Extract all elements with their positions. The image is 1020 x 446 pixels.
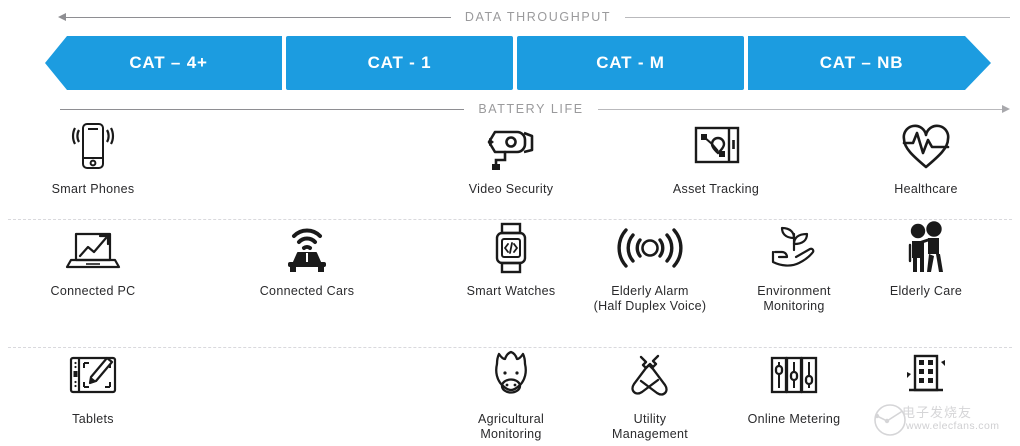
use-case-row-2: Connected PC Connected Cars — [0, 220, 1020, 348]
laptop-growth-chart-icon — [18, 220, 168, 276]
use-case-label: Elderly Alarm (Half Duplex Voice) — [575, 284, 725, 314]
two-people-icon — [851, 220, 1001, 276]
category-segment-cat-nb[interactable]: CAT – NB — [748, 36, 991, 90]
use-case-label: Video Security — [436, 182, 586, 197]
use-case-tablets[interactable]: Tablets — [18, 348, 168, 427]
category-label: CAT – 4+ — [129, 53, 207, 73]
category-bar: CAT – 4+ CAT - 1 CAT - M CAT – NB — [55, 36, 975, 90]
category-segment-cat-1[interactable]: CAT - 1 — [286, 36, 513, 90]
axis-line-left — [66, 17, 451, 18]
axis-line-right — [625, 17, 1010, 18]
use-case-label: Connected Cars — [232, 284, 382, 299]
smartwatch-icon — [436, 220, 586, 276]
use-case-label: Healthcare — [851, 182, 1001, 197]
use-case-connected-cars[interactable]: Connected Cars — [232, 220, 382, 299]
use-case-online-metering[interactable]: Online Metering — [719, 348, 869, 427]
alarm-signal-waves-icon — [575, 220, 725, 276]
hand-sprout-icon — [719, 220, 869, 276]
use-case-smart-building[interactable] — [851, 348, 1001, 412]
use-case-elderly-alarm[interactable]: Elderly Alarm (Half Duplex Voice) — [575, 220, 725, 314]
use-case-agricultural-monitoring[interactable]: Agricultural Monitoring — [436, 348, 586, 442]
category-label: CAT - M — [596, 53, 665, 73]
smart-building-icon — [851, 348, 1001, 404]
cow-head-icon — [436, 348, 586, 404]
use-case-row-1: Smart Phones Video Security — [0, 118, 1020, 220]
use-case-utility-management[interactable]: Utility Management — [575, 348, 725, 442]
drawing-tablet-stylus-icon — [18, 348, 168, 404]
category-segment-cat-4plus[interactable]: CAT – 4+ — [45, 36, 282, 90]
use-case-label: Smart Phones — [18, 182, 168, 197]
wrench-screwdriver-icon — [575, 348, 725, 404]
category-label: CAT – NB — [820, 53, 904, 73]
use-case-label: Environment Monitoring — [719, 284, 869, 314]
use-case-label: Agricultural Monitoring — [436, 412, 586, 442]
use-case-label: Utility Management — [575, 412, 725, 442]
smartphone-signal-icon — [18, 118, 168, 174]
sliders-meter-icon — [719, 348, 869, 404]
heart-pulse-icon — [851, 118, 1001, 174]
use-case-row-3: Tablets Agricultural Monitoring — [0, 348, 1020, 446]
use-case-smart-phones[interactable]: Smart Phones — [18, 118, 168, 197]
data-throughput-axis: DATA THROUGHPUT — [58, 6, 1010, 28]
use-case-label: Asset Tracking — [641, 182, 791, 197]
use-case-smart-watches[interactable]: Smart Watches — [436, 220, 586, 299]
axis-line-left — [60, 109, 464, 110]
use-case-healthcare[interactable]: Healthcare — [851, 118, 1001, 197]
arrow-right-icon — [1002, 105, 1010, 113]
gps-tracker-map-icon — [641, 118, 791, 174]
use-case-label: Tablets — [18, 412, 168, 427]
data-throughput-label: DATA THROUGHPUT — [465, 10, 611, 24]
battery-life-axis: BATTERY LIFE — [60, 98, 1010, 120]
arrow-left-icon — [58, 13, 66, 21]
use-case-grid: Smart Phones Video Security — [0, 118, 1020, 446]
security-camera-icon — [436, 118, 586, 174]
category-label: CAT - 1 — [368, 53, 432, 73]
use-case-label: Smart Watches — [436, 284, 586, 299]
use-case-asset-tracking[interactable]: Asset Tracking — [641, 118, 791, 197]
use-case-label: Online Metering — [719, 412, 869, 427]
use-case-connected-pc[interactable]: Connected PC — [18, 220, 168, 299]
battery-life-label: BATTERY LIFE — [478, 102, 583, 116]
use-case-label: Elderly Care — [851, 284, 1001, 299]
use-case-elderly-care[interactable]: Elderly Care — [851, 220, 1001, 299]
use-case-video-security[interactable]: Video Security — [436, 118, 586, 197]
car-wifi-icon — [232, 220, 382, 276]
use-case-environment-monitoring[interactable]: Environment Monitoring — [719, 220, 869, 314]
axis-line-right — [598, 109, 1002, 110]
use-case-label: Connected PC — [18, 284, 168, 299]
category-segment-cat-m[interactable]: CAT - M — [517, 36, 744, 90]
